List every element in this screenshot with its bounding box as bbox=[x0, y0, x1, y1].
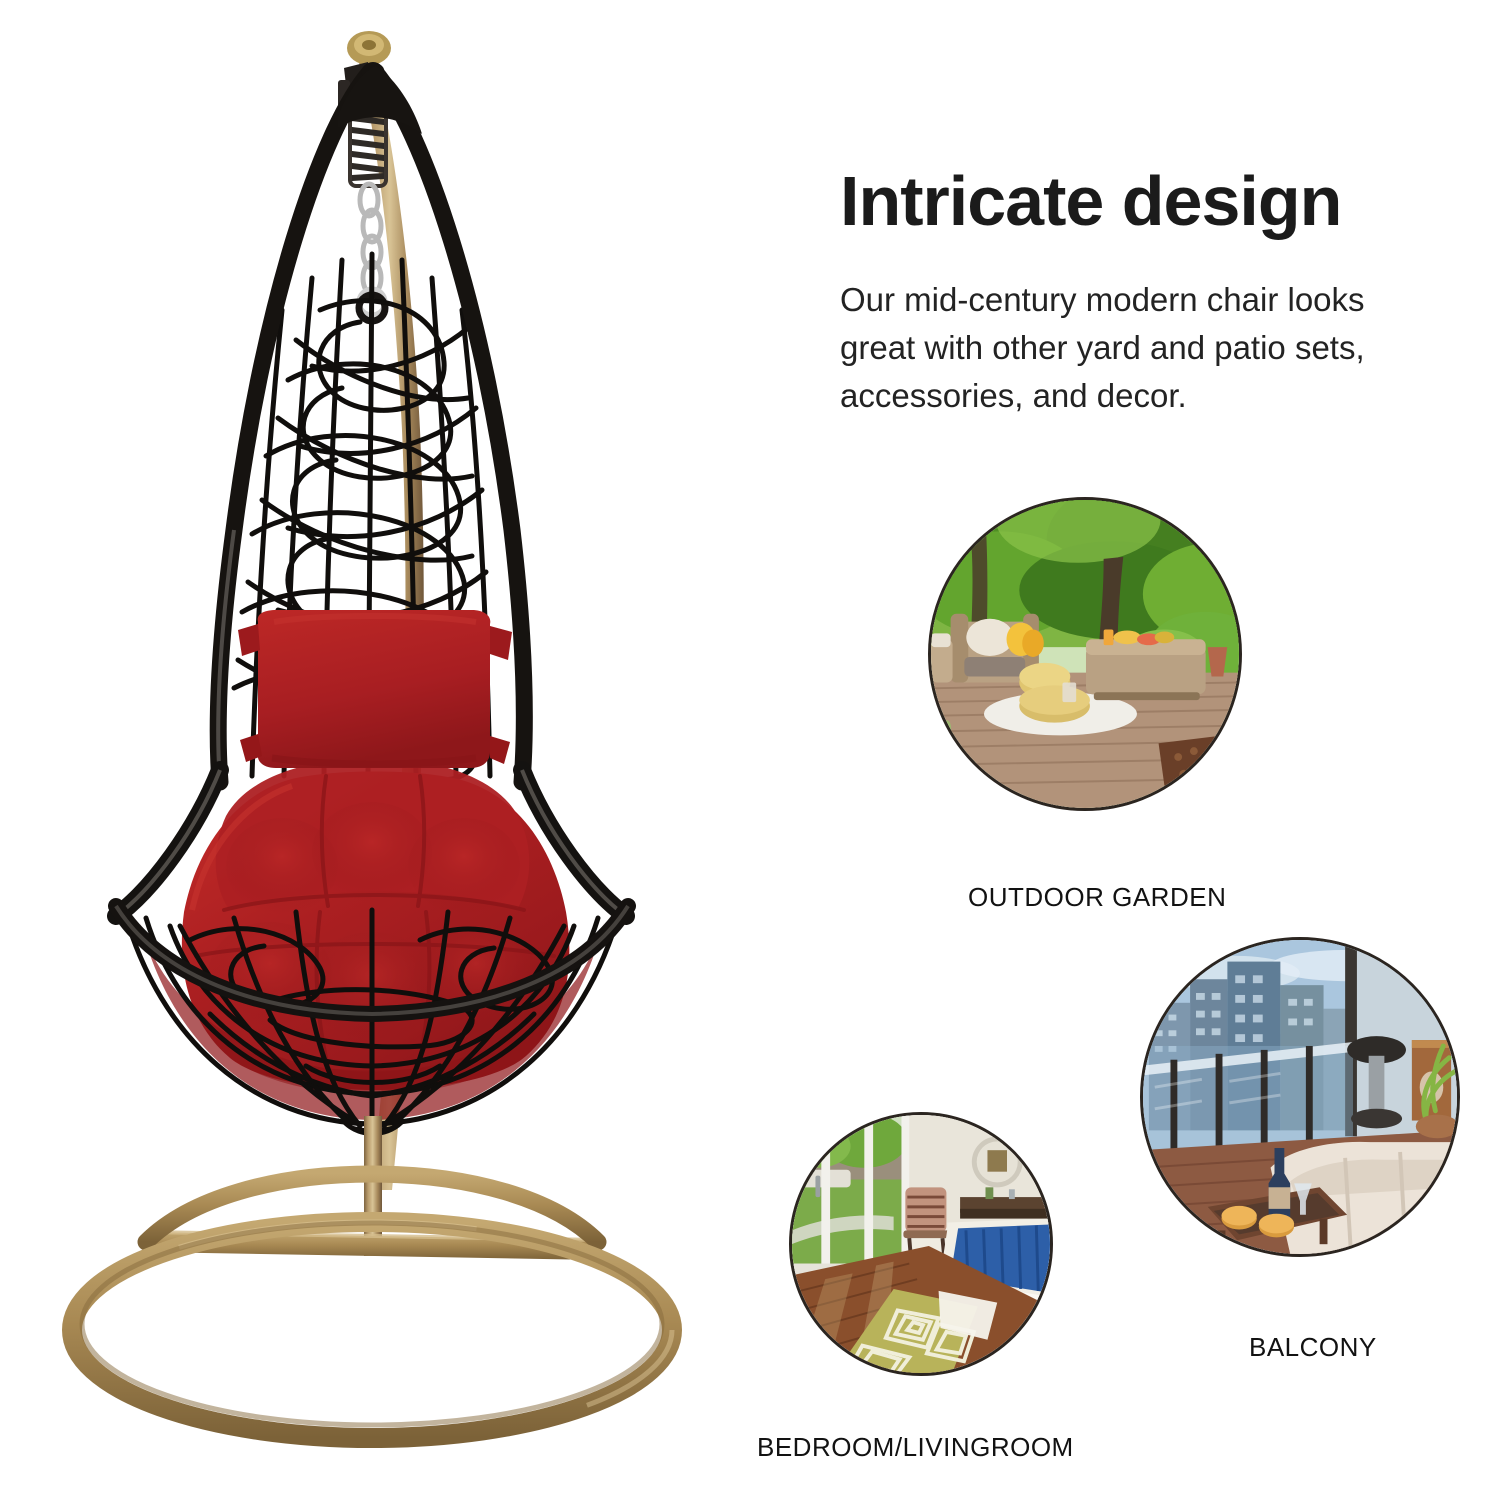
lumbar-pillow bbox=[238, 610, 512, 768]
scene-thumbnail-outdoor-garden[interactable] bbox=[928, 497, 1242, 811]
marketing-copy: Intricate design Our mid-century modern … bbox=[840, 160, 1420, 420]
scene-label-outdoor-garden: OUTDOOR GARDEN bbox=[968, 882, 1226, 913]
page-title: Intricate design bbox=[840, 160, 1420, 242]
scene-thumbnail-bedroom-livingroom[interactable] bbox=[789, 1112, 1053, 1376]
tension-spring bbox=[350, 110, 386, 186]
product-image-hanging-chair bbox=[20, 10, 740, 1490]
scene-label-balcony: BALCONY bbox=[1249, 1332, 1377, 1363]
body-text: Our mid-century modern chair looks great… bbox=[840, 276, 1406, 420]
stand-base bbox=[72, 1116, 672, 1438]
scene-label-bedroom-livingroom: BEDROOM/LIVINGROOM bbox=[757, 1432, 1074, 1463]
decorative-cap-icon bbox=[347, 31, 391, 65]
scene-thumbnail-balcony[interactable] bbox=[1140, 937, 1460, 1257]
poster-stage: Intricate design Our mid-century modern … bbox=[0, 0, 1500, 1500]
